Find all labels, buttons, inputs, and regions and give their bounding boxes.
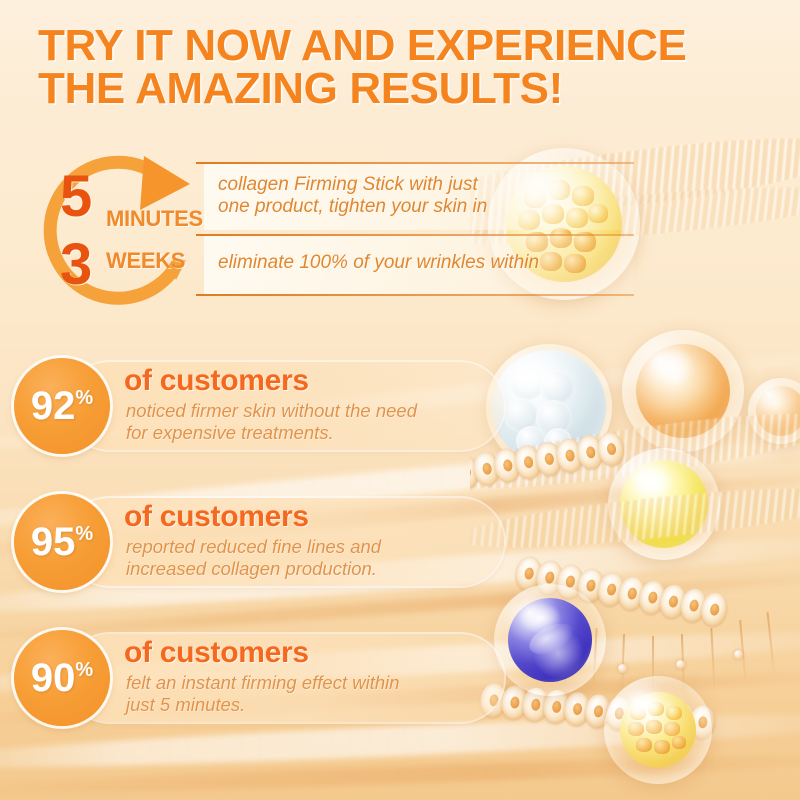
stat-percent-value-95: 95 bbox=[31, 522, 76, 562]
time-text-2: eliminate 100% of your wrinkles within bbox=[218, 252, 539, 274]
headline-line-2: THE AMAZING RESULTS! bbox=[38, 67, 738, 110]
time-text-1: collagen Firming Stick with just one pro… bbox=[218, 174, 487, 219]
stat-percent-value-90: 90 bbox=[31, 658, 76, 698]
time-unit-2: WEEKS bbox=[106, 248, 185, 274]
honeycomb-sphere-bottom bbox=[604, 676, 712, 784]
stat-percent-90: 90 % bbox=[31, 658, 93, 698]
percent-symbol-92: % bbox=[75, 388, 93, 408]
stat-body-90-line-2: just 5 minutes. bbox=[126, 694, 506, 716]
percent-symbol-90: % bbox=[75, 660, 93, 680]
time-promise-block: 5 MINUTES collagen Firming Stick with ju… bbox=[18, 148, 638, 328]
time-text-1-line-1: collagen Firming Stick with just bbox=[218, 174, 487, 196]
stat-body-92-line-2: for expensive treatments. bbox=[126, 422, 506, 444]
skin-science-artwork bbox=[470, 0, 800, 800]
time-number-1: 5 bbox=[60, 168, 92, 226]
time-number-2: 3 bbox=[60, 236, 92, 294]
stat-percent-95: 95 % bbox=[31, 522, 93, 562]
stat-circle-95: 95 % bbox=[14, 494, 110, 590]
stat-row-92: 92 % of customers noticed firmer skin wi… bbox=[14, 358, 504, 454]
stat-body-95-line-2: increased collagen production. bbox=[126, 558, 506, 580]
time-text-1-line-2: one product, tighten your skin in bbox=[218, 196, 487, 218]
stat-percent-value-92: 92 bbox=[31, 386, 76, 426]
time-divider-top bbox=[196, 162, 634, 164]
time-unit-1: MINUTES bbox=[106, 206, 203, 232]
stat-body-92-line-1: noticed firmer skin without the need bbox=[126, 400, 506, 422]
amber-sphere-edge bbox=[748, 378, 800, 444]
amber-sphere bbox=[622, 330, 744, 452]
skin-cell-arc bbox=[513, 554, 726, 627]
stat-circle-92: 92 % bbox=[14, 358, 110, 454]
time-text-2-line-1: eliminate 100% of your wrinkles within bbox=[218, 252, 539, 274]
time-divider-bottom bbox=[196, 294, 634, 296]
headline-line-1: TRY IT NOW AND EXPERIENCE bbox=[38, 24, 738, 67]
stat-heading-95: of customers bbox=[124, 500, 309, 534]
stat-body-90-line-1: felt an instant firming effect within bbox=[126, 672, 506, 694]
stat-body-90: felt an instant firming effect within ju… bbox=[126, 672, 506, 716]
stat-heading-90: of customers bbox=[124, 636, 309, 670]
stat-body-95-line-1: reported reduced fine lines and bbox=[126, 536, 506, 558]
yellow-oil-sphere bbox=[608, 448, 720, 560]
stat-circle-90: 90 % bbox=[14, 630, 110, 726]
page-title: TRY IT NOW AND EXPERIENCE THE AMAZING RE… bbox=[38, 24, 738, 110]
advertisement-poster: TRY IT NOW AND EXPERIENCE THE AMAZING RE… bbox=[0, 0, 800, 800]
stat-row-90: 90 % of customers felt an instant firmin… bbox=[14, 630, 504, 726]
stat-heading-92: of customers bbox=[124, 364, 309, 398]
stat-body-95: reported reduced fine lines and increase… bbox=[126, 536, 506, 580]
percent-symbol-95: % bbox=[75, 524, 93, 544]
stat-body-92: noticed firmer skin without the need for… bbox=[126, 400, 506, 444]
blue-swirl-sphere bbox=[494, 584, 606, 696]
stat-row-95: 95 % of customers reported reduced fine … bbox=[14, 494, 504, 590]
stat-percent-92: 92 % bbox=[31, 386, 93, 426]
time-divider-middle bbox=[196, 234, 634, 236]
